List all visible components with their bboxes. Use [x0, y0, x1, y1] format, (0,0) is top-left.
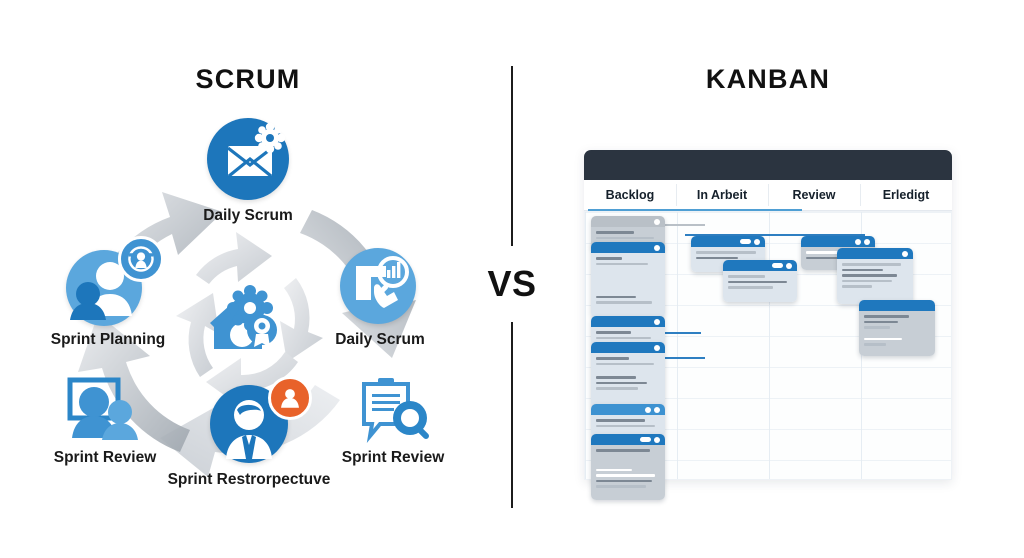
card-header	[859, 300, 935, 311]
card-dot-icon	[786, 263, 792, 269]
card-dot-icon	[654, 219, 660, 225]
column-header-erledigt[interactable]: Erledigt	[860, 180, 952, 210]
node-icon-envelope-gear	[207, 118, 289, 200]
node-label-bottom-left: Sprint Review	[30, 448, 180, 467]
divider-line-top	[511, 66, 513, 246]
node-icon-people-screen	[62, 372, 148, 448]
kanban-card[interactable]	[837, 248, 913, 304]
card-body	[859, 311, 935, 356]
kanban-card[interactable]	[859, 300, 935, 356]
card-pill-icon	[640, 437, 651, 442]
board-grid	[584, 211, 952, 480]
card-body	[591, 353, 665, 408]
scrum-cycle-diagram: Daily Scrum Daily Scrum	[10, 100, 480, 520]
kanban-card[interactable]	[591, 434, 665, 500]
card-dot-icon	[902, 251, 908, 257]
card-header	[591, 316, 665, 327]
card-dot-icon	[864, 239, 870, 245]
card-header	[801, 236, 875, 247]
target-badge-icon	[118, 236, 164, 282]
node-label-top: Daily Scrum	[173, 206, 323, 225]
kanban-card[interactable]	[591, 404, 665, 438]
card-header	[591, 434, 665, 445]
kanban-card[interactable]	[591, 342, 665, 408]
node-label-bottom: Sprint Restrorpectuve	[165, 470, 333, 489]
board-column-headers: Backlog In Arbeit Review Erledigt	[584, 180, 952, 211]
column-header-backlog[interactable]: Backlog	[584, 180, 676, 210]
feedback-avatar-badge-icon	[268, 376, 312, 420]
card-body	[591, 445, 665, 500]
card-header	[723, 260, 797, 271]
comparison-infographic: SCRUM KANBAN VS	[0, 0, 1024, 558]
kanban-card[interactable]	[591, 242, 665, 318]
card-header	[591, 404, 665, 415]
node-label-bottom-line1: Sprint Restrorpectuve	[168, 471, 331, 488]
node-icon-presentation-chart	[340, 248, 416, 324]
divider-line-bottom	[511, 322, 513, 508]
node-icon-clipboard-search	[350, 372, 436, 452]
card-header	[591, 242, 665, 253]
node-label-left: Sprint Planning	[28, 330, 188, 349]
scrum-title: SCRUM	[148, 64, 348, 95]
node-label-bottom-right: Sprint Review	[318, 448, 468, 467]
card-pill-icon	[740, 239, 751, 244]
kanban-title: KANBAN	[668, 64, 868, 95]
card-header	[591, 342, 665, 353]
card-dot-icon	[645, 407, 651, 413]
house-gears-award-icon	[198, 275, 292, 369]
card-pill-icon	[772, 263, 783, 268]
kanban-board[interactable]: Backlog In Arbeit Review Erledigt	[584, 150, 952, 480]
card-dot-icon	[855, 239, 861, 245]
board-top-bar	[584, 150, 952, 180]
card-header	[691, 236, 765, 247]
card-body	[837, 259, 913, 304]
card-dot-icon	[654, 407, 660, 413]
card-dot-icon	[654, 437, 660, 443]
card-dot-icon	[654, 319, 660, 325]
node-label-right: Daily Scrum	[310, 330, 450, 349]
card-header	[837, 248, 913, 259]
column-header-review[interactable]: Review	[768, 180, 860, 210]
card-connector	[659, 224, 705, 226]
card-dot-icon	[654, 345, 660, 351]
kanban-card[interactable]	[723, 260, 797, 302]
card-header	[591, 216, 665, 227]
card-dot-icon	[754, 239, 760, 245]
card-body	[723, 271, 797, 302]
card-dot-icon	[654, 245, 660, 251]
column-header-in-arbeit[interactable]: In Arbeit	[676, 180, 768, 210]
card-body	[591, 253, 665, 318]
